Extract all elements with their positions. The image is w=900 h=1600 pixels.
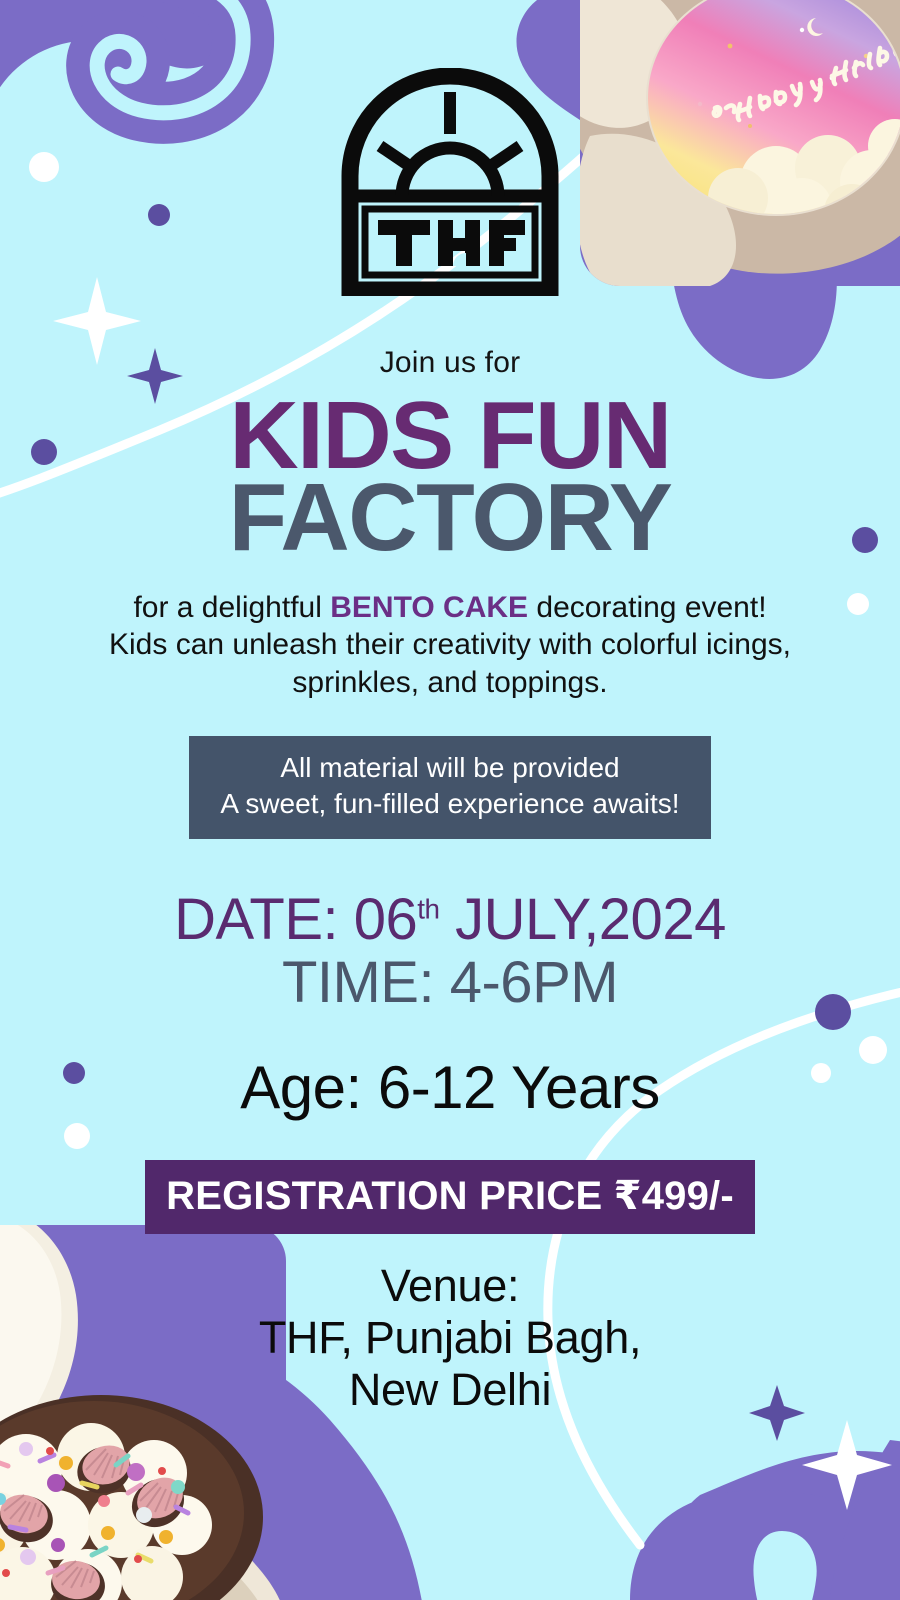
page-title: KIDS FUN FACTORY [229,392,672,563]
event-description: for a delightful BENTO CAKE decorating e… [70,589,830,702]
age-requirement: Age: 6-12 Years [240,1058,660,1118]
intro-text: Join us for [380,348,521,378]
note-line-2: A sweet, fun-filled experience awaits! [199,786,701,822]
event-poster: Join us for KIDS FUN FACTORY for a delig… [0,0,900,1600]
desc-before: for a delightful [133,591,330,624]
thf-logo [334,68,566,296]
date-day-suffix: th [417,893,439,924]
note-line-1: All material will be provided [199,750,701,786]
date-day: 06 [354,887,418,952]
desc-line-3: sprinkles, and toppings. [292,666,607,699]
desc-after: decorating event! [528,591,767,624]
time-label: TIME: [282,950,434,1015]
event-date: DATE: 06th JULY,2024 [174,889,726,950]
venue-line-1: THF, Punjabi Bagh, [259,1312,641,1364]
registration-price: ₹499/- [614,1174,734,1218]
registration-label: REGISTRATION PRICE [166,1174,602,1218]
materials-note-banner: All material will be provided A sweet, f… [189,736,711,839]
venue-line-2: New Delhi [259,1364,641,1416]
desc-line-2: Kids can unleash their creativity with c… [109,628,791,661]
schedule-block: DATE: 06th JULY,2024 TIME: 4-6PM [174,889,726,1014]
event-time: TIME: 4-6PM [174,952,726,1013]
time-value: 4-6PM [450,950,618,1015]
registration-price-banner: REGISTRATION PRICE ₹499/- [145,1160,755,1234]
date-month-year: JULY,2024 [455,887,726,952]
title-line-2: FACTORY [229,474,672,562]
desc-highlight: BENTO CAKE [330,591,528,624]
venue-block: Venue: THF, Punjabi Bagh, New Delhi [259,1260,641,1417]
venue-label: Venue: [259,1260,641,1312]
date-label: DATE: [174,887,338,952]
